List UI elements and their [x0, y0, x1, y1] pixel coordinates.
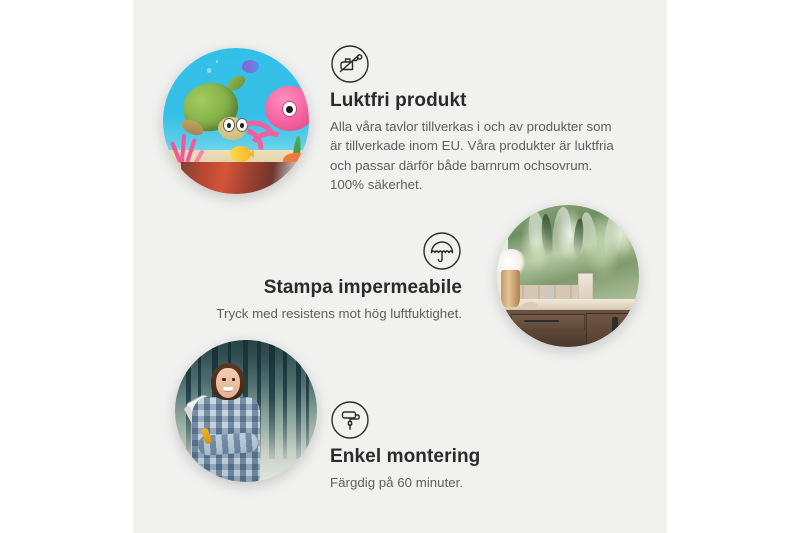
feature-title: Enkel montering — [330, 446, 610, 469]
forest-wallpaper-scene-image — [175, 340, 317, 482]
feature-body: Färgdig på 60 minuter. — [330, 473, 610, 493]
paint-roller-icon — [330, 400, 370, 440]
feature-odour-free: Luktfri produkt Alla våra tavlor tillver… — [330, 44, 622, 195]
bubble-icon — [207, 68, 211, 72]
feature-body: Tryck med resistens mot hög luftfuktighe… — [200, 304, 462, 324]
feature-easy-installation: Enkel montering Färgdig på 60 minuter. — [330, 400, 610, 492]
feature-title: Stampa impermeabile — [200, 277, 462, 300]
feature-title: Luktfri produkt — [330, 90, 622, 113]
door-handle — [612, 317, 617, 334]
coral — [172, 127, 216, 165]
bathroom-background — [497, 205, 639, 347]
bubble-icon — [216, 60, 219, 63]
no-spray-bottle-icon — [330, 44, 370, 84]
underwater-scene-image — [163, 48, 309, 194]
drawer-handle — [524, 320, 559, 322]
umbrella-icon — [422, 231, 462, 271]
feature-waterproof-print: Stampa impermeabile Tryck med resistens … — [200, 231, 462, 323]
vase — [501, 270, 519, 307]
product-feature-panel: Luktfri produkt Alla våra tavlor tillver… — [0, 0, 800, 533]
purple-fish — [242, 60, 260, 73]
scene-foreground-strip — [181, 162, 309, 194]
wooden-vanity — [506, 310, 639, 347]
forest-background — [175, 340, 317, 482]
sea-background — [163, 48, 309, 194]
turtle-eye — [223, 118, 235, 132]
bathroom-wallpaper-scene-image — [497, 205, 639, 347]
yellow-fish — [230, 146, 250, 162]
tree-canopy — [175, 340, 317, 400]
feature-body: Alla våra tavlor tillverkas i och av pro… — [330, 117, 622, 195]
soap-dish — [523, 302, 539, 309]
